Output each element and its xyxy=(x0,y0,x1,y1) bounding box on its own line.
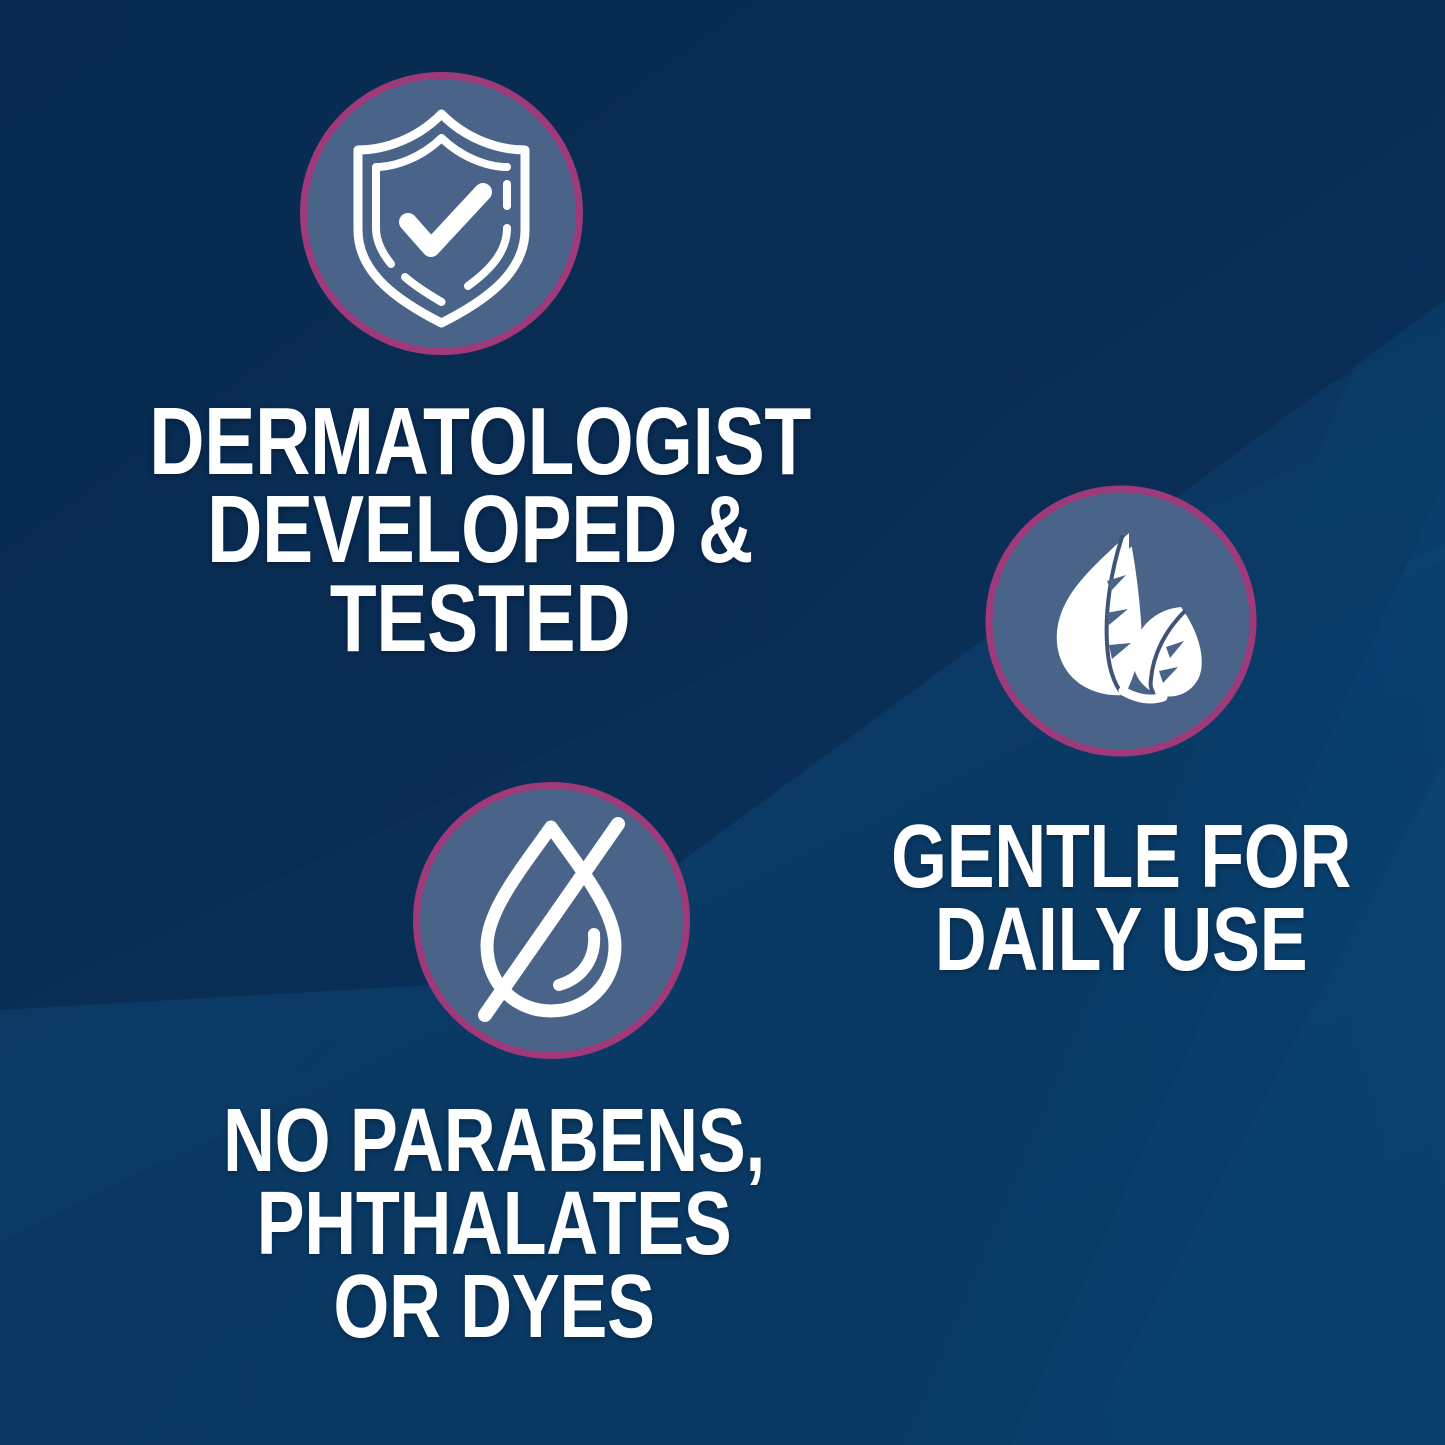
product-feature-infographic: Dermatologist Developed & Tested xyxy=(0,0,1445,1445)
droplet-slash-icon xyxy=(413,782,690,1059)
feature-badge-no-dyes xyxy=(413,782,690,1059)
feature-badge-gentle xyxy=(985,485,1257,757)
feather-icon xyxy=(985,485,1257,757)
feature-claim-dermatologist: Dermatologist Developed & Tested xyxy=(64,398,896,663)
shield-check-icon xyxy=(300,72,583,355)
feature-claim-gentle: Gentle For Daily Use xyxy=(793,816,1445,982)
feature-claim-no-dyes: No Parabens, Phthalates Or Dyes xyxy=(78,1100,910,1348)
feature-badge-dermatologist xyxy=(300,72,583,355)
